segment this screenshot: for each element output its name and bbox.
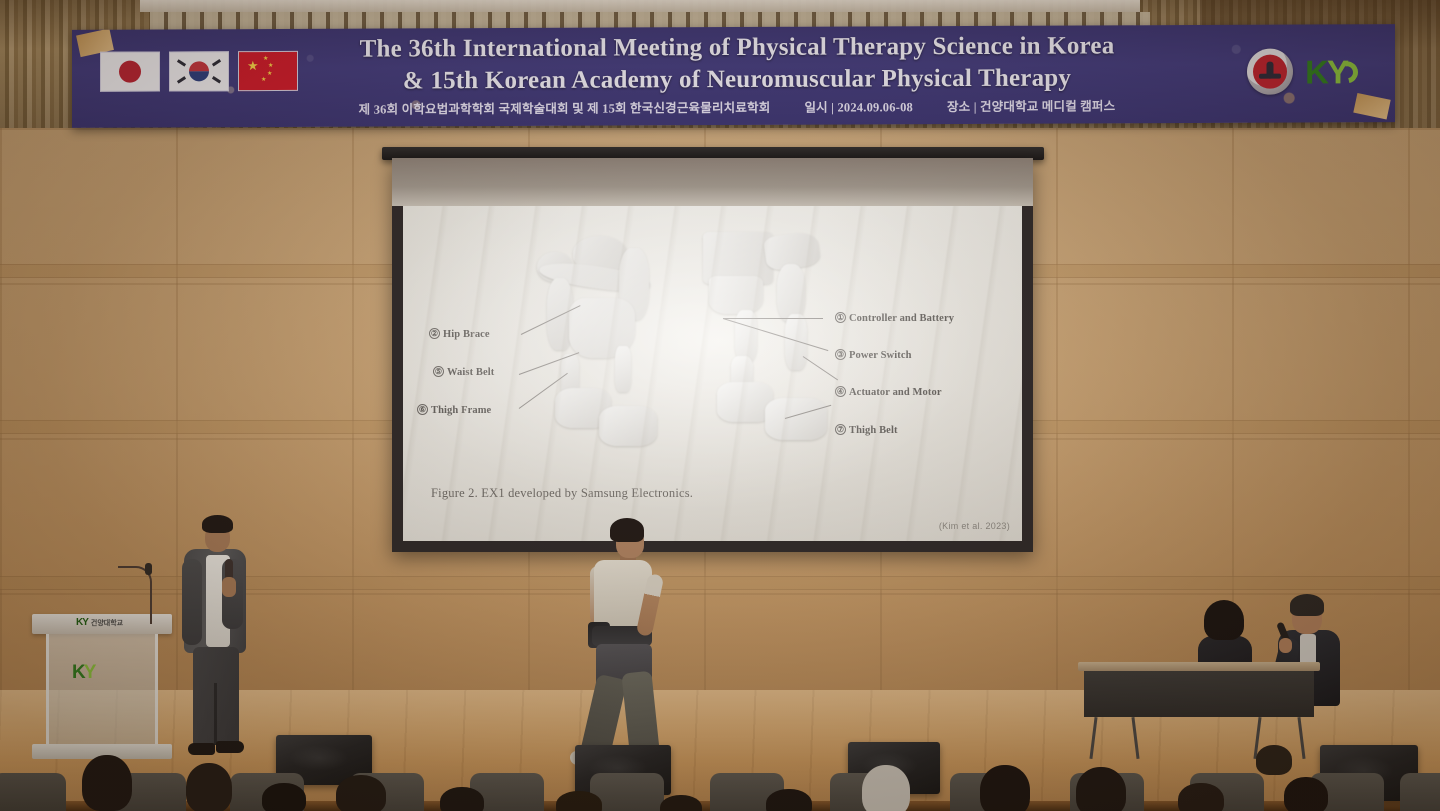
presenter-hand (222, 577, 236, 597)
banner-date: 일시 | 2024.09.06-08 (804, 96, 913, 115)
slide-label-waist-belt-text: Waist Belt (447, 367, 494, 378)
slide-label-hip-brace-text: Hip Brace (443, 329, 490, 340)
audience-head (186, 763, 232, 811)
slide-label-actuator-text: Actuator and Motor (849, 387, 942, 398)
slide-label-power-switch: ③Power Switch (835, 349, 912, 361)
slide-label-hip-brace: ②Hip Brace (429, 328, 490, 340)
audience-front-row (0, 741, 1440, 811)
presenter-speaker (178, 515, 252, 760)
slide-canvas: ②Hip Brace ⑤Waist Belt ⑥Thigh Frame ①Con… (403, 206, 1022, 541)
banner-text-block: The 36th International Meeting of Physic… (272, 30, 1202, 118)
audience-seat (0, 773, 66, 811)
slide-label-actuator-number: ④ (835, 386, 846, 397)
audience-head (1076, 767, 1126, 811)
projection-screen: ②Hip Brace ⑤Waist Belt ⑥Thigh Frame ①Con… (392, 158, 1033, 552)
demonstrator-hair (610, 518, 644, 542)
banner-venue: 장소 | 건양대학교 메디컬 캠퍼스 (947, 95, 1115, 115)
panelist-male-hair (1290, 594, 1324, 616)
flag-group: ★ ★ ★ ★ ★ (100, 51, 298, 92)
ky-university-logo: KY (1305, 55, 1355, 88)
slide-figure-caption: Figure 2. EX1 developed by Samsung Elect… (431, 486, 693, 501)
audience-seat (1400, 773, 1440, 811)
panelist-female-hair (1204, 600, 1244, 640)
screen-top-band (392, 158, 1033, 206)
conference-banner: ★ ★ ★ ★ ★ The 36th International Meeting… (72, 24, 1395, 128)
ceiling-light-bar (140, 0, 1140, 12)
slide-label-power-switch-number: ③ (835, 349, 846, 360)
slide-label-thigh-belt-number: ⑦ (835, 424, 846, 435)
audience-head (440, 787, 484, 811)
audience-head (82, 755, 132, 811)
audience-head (660, 795, 702, 811)
slide-label-actuator-motor: ④Actuator and Motor (835, 386, 942, 398)
conference-photo-scene: ★ ★ ★ ★ ★ The 36th International Meeting… (0, 0, 1440, 811)
south-korea-flag (169, 51, 229, 91)
panelist-male-hand (1279, 638, 1292, 653)
audience-head (1178, 783, 1224, 811)
table-top-surface (1078, 662, 1320, 671)
slide-label-hip-brace-number: ② (429, 328, 440, 339)
presenter-leg-separation (214, 683, 217, 745)
audience-head (556, 791, 602, 811)
banner-logo-group: KY (1247, 48, 1355, 94)
audience-head (766, 789, 812, 811)
podium-logo-top: KY건양대학교 (76, 617, 123, 628)
slide-citation: (Kim et al. 2023) (939, 521, 1010, 531)
presenter-hair (202, 515, 233, 533)
banner-subtitle-korean: 제 36회 이학요법과학학회 국제학술대회 및 제 15회 한국신경근육물리치료… (359, 97, 771, 118)
slide-label-waist-belt-number: ⑤ (433, 366, 444, 377)
slide-label-controller-text: Controller and Battery (849, 313, 954, 324)
audience-head (262, 783, 306, 811)
slide-label-thigh-frame: ⑥Thigh Frame (417, 404, 491, 416)
leader-line-controller (723, 318, 823, 319)
audience-head (862, 765, 910, 811)
table-skirt (1084, 671, 1314, 717)
audience-head (336, 775, 386, 811)
audience-head (980, 765, 1030, 811)
slide-label-thigh-frame-text: Thigh Frame (431, 405, 491, 416)
banner-title-line2: & 15th Korean Academy of Neuromuscular P… (272, 62, 1202, 98)
presenter-left-arm (182, 559, 202, 645)
slide-label-waist-belt: ⑤Waist Belt (433, 366, 494, 378)
podium-microphone-head (145, 563, 152, 575)
lectern-podium: KY건양대학교 KY (32, 614, 172, 762)
slide-label-thigh-frame-number: ⑥ (417, 404, 428, 415)
slide-label-power-switch-text: Power Switch (849, 350, 912, 361)
podium-body (46, 634, 158, 744)
audience-head (1256, 745, 1292, 775)
exoskeleton-demonstrator (570, 518, 695, 770)
podium-logo-main: KY (72, 662, 94, 684)
audience-head (1284, 777, 1328, 811)
slide-label-controller-number: ① (835, 312, 846, 323)
slide-label-controller-battery: ①Controller and Battery (835, 312, 954, 324)
banner-title-line1: The 36th International Meeting of Physic… (272, 30, 1202, 66)
society-emblem-logo (1247, 49, 1293, 95)
slide-label-thigh-belt: ⑦Thigh Belt (835, 424, 898, 436)
japan-flag (100, 52, 160, 92)
slide-label-thigh-belt-text: Thigh Belt (849, 425, 898, 436)
podium-logo-top-text: KY (76, 617, 88, 628)
banner-subtitle-row: 제 36회 이학요법과학학회 국제학술대회 및 제 15회 한국신경근육물리치료… (272, 95, 1202, 118)
exoskeleton-side-view-illustration (693, 230, 873, 450)
